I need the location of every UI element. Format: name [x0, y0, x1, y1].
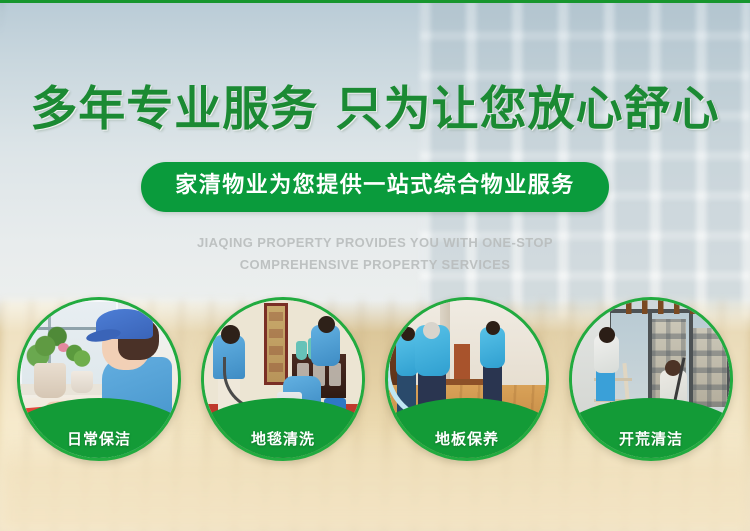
page-title: 多年专业服务 只为让您放心舒心 [0, 82, 750, 138]
service-label: 地板保养 [388, 429, 546, 449]
tagline-text: 家清物业为您提供一站式综合物业服务 [175, 171, 575, 201]
subtitle-english: JIAQING PROPERTY PROVIDES YOU WITH ONE-S… [0, 232, 750, 276]
promo-banner: 多年专业服务 只为让您放心舒心 家清物业为您提供一站式综合物业服务 JIAQIN… [0, 0, 750, 531]
subtitle-line-1: JIAQING PROPERTY PROVIDES YOU WITH ONE-S… [0, 232, 750, 254]
service-card-carpet-cleaning[interactable]: 地毯清洗 [201, 297, 365, 461]
service-card-daily-cleaning[interactable]: 日常保洁 [17, 297, 181, 461]
top-green-rule [0, 0, 750, 3]
subtitle-line-2: COMPREHENSIVE PROPERTY SERVICES [0, 254, 750, 276]
service-card-floor-maintenance[interactable]: 地板保养 [385, 297, 549, 461]
tagline-pill-wrapper: 家清物业为您提供一站式综合物业服务 [0, 162, 750, 212]
tagline-pill: 家清物业为您提供一站式综合物业服务 [141, 162, 609, 212]
service-card-post-construction-cleaning[interactable]: 开荒清洁 [569, 297, 733, 461]
service-label: 日常保洁 [20, 429, 178, 449]
service-card-list: 日常保洁 地毯清洗 [0, 297, 750, 487]
service-label: 地毯清洗 [204, 429, 362, 449]
service-label: 开荒清洁 [572, 429, 730, 449]
